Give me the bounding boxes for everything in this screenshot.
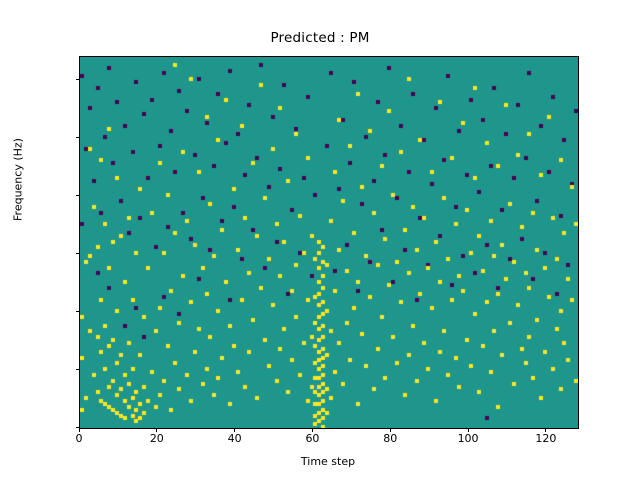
x-tick-mark xyxy=(234,428,235,432)
heatmap-canvas xyxy=(80,57,578,428)
x-tick-mark xyxy=(79,428,80,432)
x-tick-label: 20 xyxy=(150,432,164,445)
y-tick-mark xyxy=(76,253,80,254)
y-tick-mark xyxy=(76,369,80,370)
x-tick-label: 100 xyxy=(458,432,479,445)
x-axis-label: Time step xyxy=(79,455,577,468)
x-tick-label: 0 xyxy=(76,432,83,445)
y-tick-mark xyxy=(76,311,80,312)
x-tick-label: 40 xyxy=(228,432,242,445)
x-tick-label: 60 xyxy=(305,432,319,445)
y-tick-mark xyxy=(76,195,80,196)
y-axis-label: Frequency (Hz) xyxy=(12,0,25,370)
x-tick-mark xyxy=(156,428,157,432)
x-tick-mark xyxy=(545,428,546,432)
x-tick-mark xyxy=(390,428,391,432)
x-tick-label: 80 xyxy=(383,432,397,445)
y-tick-mark xyxy=(76,79,80,80)
matplotlib-figure: Predicted : PM Frequency (Hz) Time step … xyxy=(0,0,640,480)
heatmap-axes xyxy=(79,56,579,429)
x-tick-mark xyxy=(312,428,313,432)
x-tick-label: 120 xyxy=(535,432,556,445)
y-tick-mark xyxy=(76,137,80,138)
page-title: Predicted : PM xyxy=(0,30,640,46)
x-tick-mark xyxy=(468,428,469,432)
